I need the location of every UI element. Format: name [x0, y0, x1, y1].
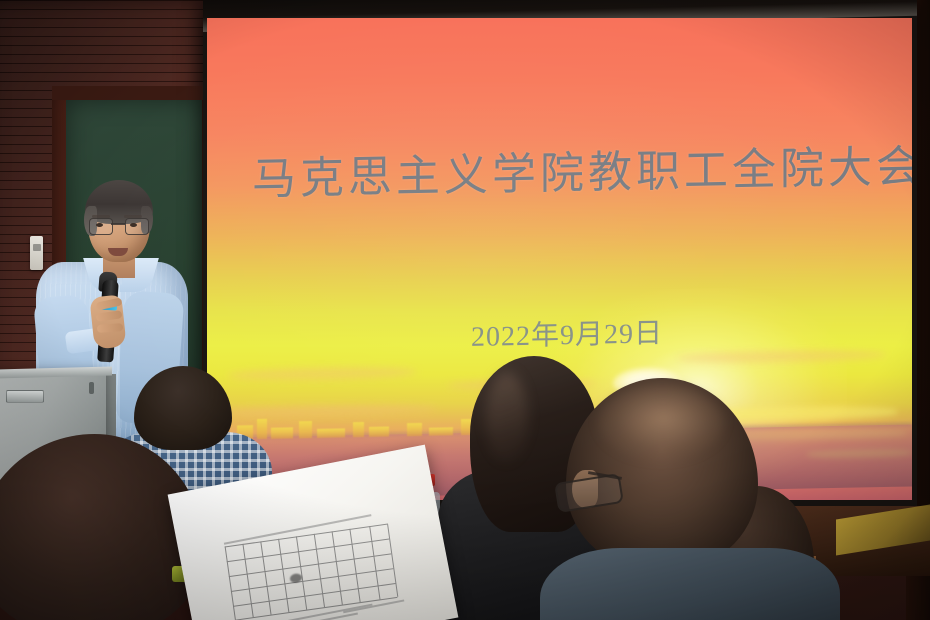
- speaker-eye-left: [96, 223, 103, 227]
- meeting-photo: 马克思主义学院教职工全院大会 2022年9月29日: [0, 0, 930, 620]
- slide-title: 马克思主义学院教职工全院大会: [252, 130, 912, 207]
- cloud-streak: [677, 349, 887, 364]
- door-top-rail: [52, 86, 210, 100]
- speaker-eye-right: [130, 223, 137, 227]
- cloud-streak: [227, 366, 417, 382]
- podium-lock-icon[interactable]: [89, 382, 94, 394]
- glasses-lens-right: [125, 218, 149, 235]
- podium-handle[interactable]: [6, 390, 44, 403]
- glasses-bridge: [111, 223, 125, 225]
- hair-sheen: [486, 372, 528, 464]
- wall-switch[interactable]: [30, 236, 43, 270]
- balding-man-body: [540, 548, 840, 620]
- balding-man-scalp: [598, 384, 724, 460]
